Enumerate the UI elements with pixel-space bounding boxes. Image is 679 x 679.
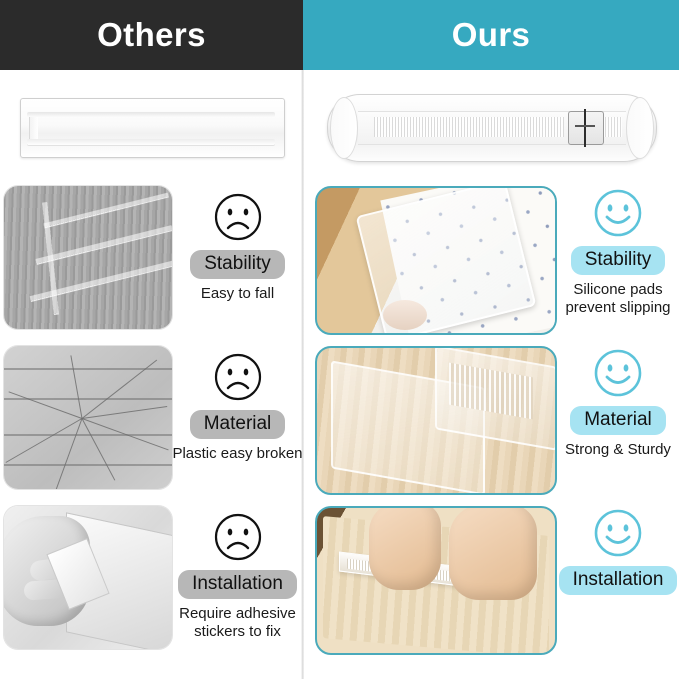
feature-pill-others-stability: Stability — [190, 250, 285, 279]
feature-caption-others-material: Plastic easy broken — [172, 445, 302, 463]
header-others-title: Others — [97, 16, 206, 54]
product-image-others — [20, 98, 285, 158]
feature-pill-others-installation: Installation — [178, 570, 297, 599]
feature-pill-ours-installation: Installation — [559, 566, 678, 595]
photo-detail — [369, 506, 441, 590]
sad-face-icon — [213, 192, 263, 242]
feature-photo-others-installation — [4, 506, 172, 649]
column-ours: Stability Silicone pads prevent slipping — [303, 70, 679, 679]
smile-face-icon — [593, 188, 643, 238]
photo-detail — [35, 225, 172, 264]
photo-detail — [4, 464, 172, 466]
photo-detail — [53, 418, 83, 489]
feature-pill-ours-material: Material — [570, 406, 666, 435]
feature-label-others-installation: Installation Require adhesive stickers t… — [172, 502, 303, 640]
feature-row-ours-material: Material Strong & Sturdy — [303, 342, 679, 502]
hero-others — [0, 70, 303, 182]
product-image-ours — [327, 94, 657, 162]
photo-detail — [383, 300, 427, 330]
feature-caption-others-stability: Easy to fall — [201, 285, 274, 303]
smile-face-icon — [593, 348, 643, 398]
feature-caption-ours-material: Strong & Sturdy — [565, 441, 671, 459]
feature-row-others-material: Material Plastic easy broken — [0, 342, 303, 502]
feature-row-others-installation: Installation Require adhesive stickers t… — [0, 502, 303, 662]
smile-face-icon — [593, 508, 643, 558]
feature-caption-others-installation: Require adhesive stickers to fix — [172, 605, 303, 640]
feature-photo-ours-stability — [315, 186, 557, 335]
feature-photo-others-material — [4, 346, 172, 489]
comparison-infographic: Others Ours — [0, 0, 679, 679]
feature-pill-ours-stability: Stability — [571, 246, 666, 275]
comparison-columns: Stability Easy to fall — [0, 70, 679, 679]
tray-ribbing — [374, 117, 564, 137]
feature-label-ours-installation: Installation — [557, 502, 679, 601]
photo-detail — [449, 506, 537, 600]
header-others: Others — [0, 0, 303, 70]
header-ours: Ours — [303, 0, 679, 70]
column-others: Stability Easy to fall — [0, 70, 303, 679]
photo-detail — [70, 355, 82, 418]
feature-photo-ours-material — [315, 346, 557, 495]
feature-label-others-material: Material Plastic easy broken — [172, 342, 303, 463]
header-bar: Others Ours — [0, 0, 679, 70]
feature-caption-ours-stability: Silicone pads prevent slipping — [557, 281, 679, 316]
header-ours-title: Ours — [452, 16, 531, 54]
hero-ours — [303, 70, 679, 182]
sad-face-icon — [213, 512, 263, 562]
feature-row-others-stability: Stability Easy to fall — [0, 182, 303, 342]
photo-detail — [43, 193, 168, 228]
photo-detail — [9, 391, 83, 419]
tray-end-cap — [330, 97, 358, 159]
photo-detail — [6, 418, 83, 463]
feature-label-ours-stability: Stability Silicone pads prevent slipping — [557, 182, 679, 316]
photo-detail — [4, 434, 172, 436]
feature-photo-others-stability — [4, 186, 172, 329]
feature-label-others-stability: Stability Easy to fall — [172, 182, 303, 303]
feature-label-ours-material: Material Strong & Sturdy — [557, 342, 679, 459]
feature-row-ours-stability: Stability Silicone pads prevent slipping — [303, 182, 679, 342]
feature-row-ours-installation: Installation — [303, 502, 679, 662]
feature-photo-ours-installation — [315, 506, 557, 655]
feature-pill-others-material: Material — [190, 410, 286, 439]
tray-end-cap — [626, 97, 654, 159]
tray-lip — [29, 117, 38, 141]
sad-face-icon — [213, 352, 263, 402]
tray-clip — [568, 111, 604, 145]
